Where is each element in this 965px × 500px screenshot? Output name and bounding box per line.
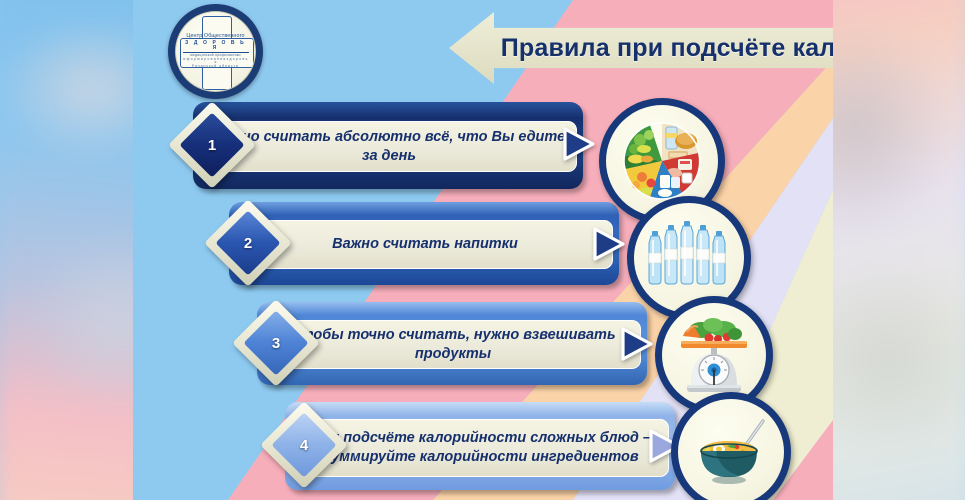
page-title: Правила при подсчёте калорий — [501, 34, 833, 63]
rule-text-3: Чтобы точно считать, нужно взвешивать пр… — [266, 326, 640, 363]
rule-number-3: 3 — [272, 335, 280, 352]
rule-number-badge-2: 2 — [217, 212, 279, 274]
rule-text-4: При подсчёте калорийности сложных блюд –… — [294, 429, 668, 466]
infographic-canvas: Правила при подсчёте калорий Важно счита… — [0, 0, 965, 500]
logo-line-5: Рязанской области — [183, 65, 249, 69]
rule-number-badge-4: 4 — [273, 414, 335, 476]
logo-line-2: З Д О Р О В Ь Я — [183, 41, 249, 53]
organization-logo: Центр Общественного З Д О Р О В Ь Я меди… — [168, 4, 263, 99]
rule-image-4 — [671, 392, 791, 500]
rule-arrow-1 — [562, 126, 596, 162]
soup-bowl-icon — [687, 413, 775, 491]
rule-number-badge-3: 3 — [245, 312, 307, 374]
rule-arrow-2 — [592, 226, 626, 262]
rule-number-4: 4 — [300, 437, 308, 454]
logo-text-block: Центр Общественного З Д О Р О В Ь Я меди… — [183, 34, 249, 68]
rule-number-1: 1 — [208, 137, 216, 154]
rule-text-2: Важно считать напитки — [322, 235, 528, 254]
logo-disc: Центр Общественного З Д О Р О В Ь Я меди… — [175, 11, 256, 92]
water-bottles-icon — [646, 219, 732, 297]
rule-number-2: 2 — [244, 235, 252, 252]
rule-number-badge-1: 1 — [181, 114, 243, 176]
rule-text-1: Важно считать абсолютно всё, что Вы едит… — [202, 128, 576, 165]
rule-arrow-3 — [620, 326, 654, 362]
food-groups-plate-icon — [616, 115, 708, 207]
kitchen-scale-icon — [671, 312, 757, 398]
